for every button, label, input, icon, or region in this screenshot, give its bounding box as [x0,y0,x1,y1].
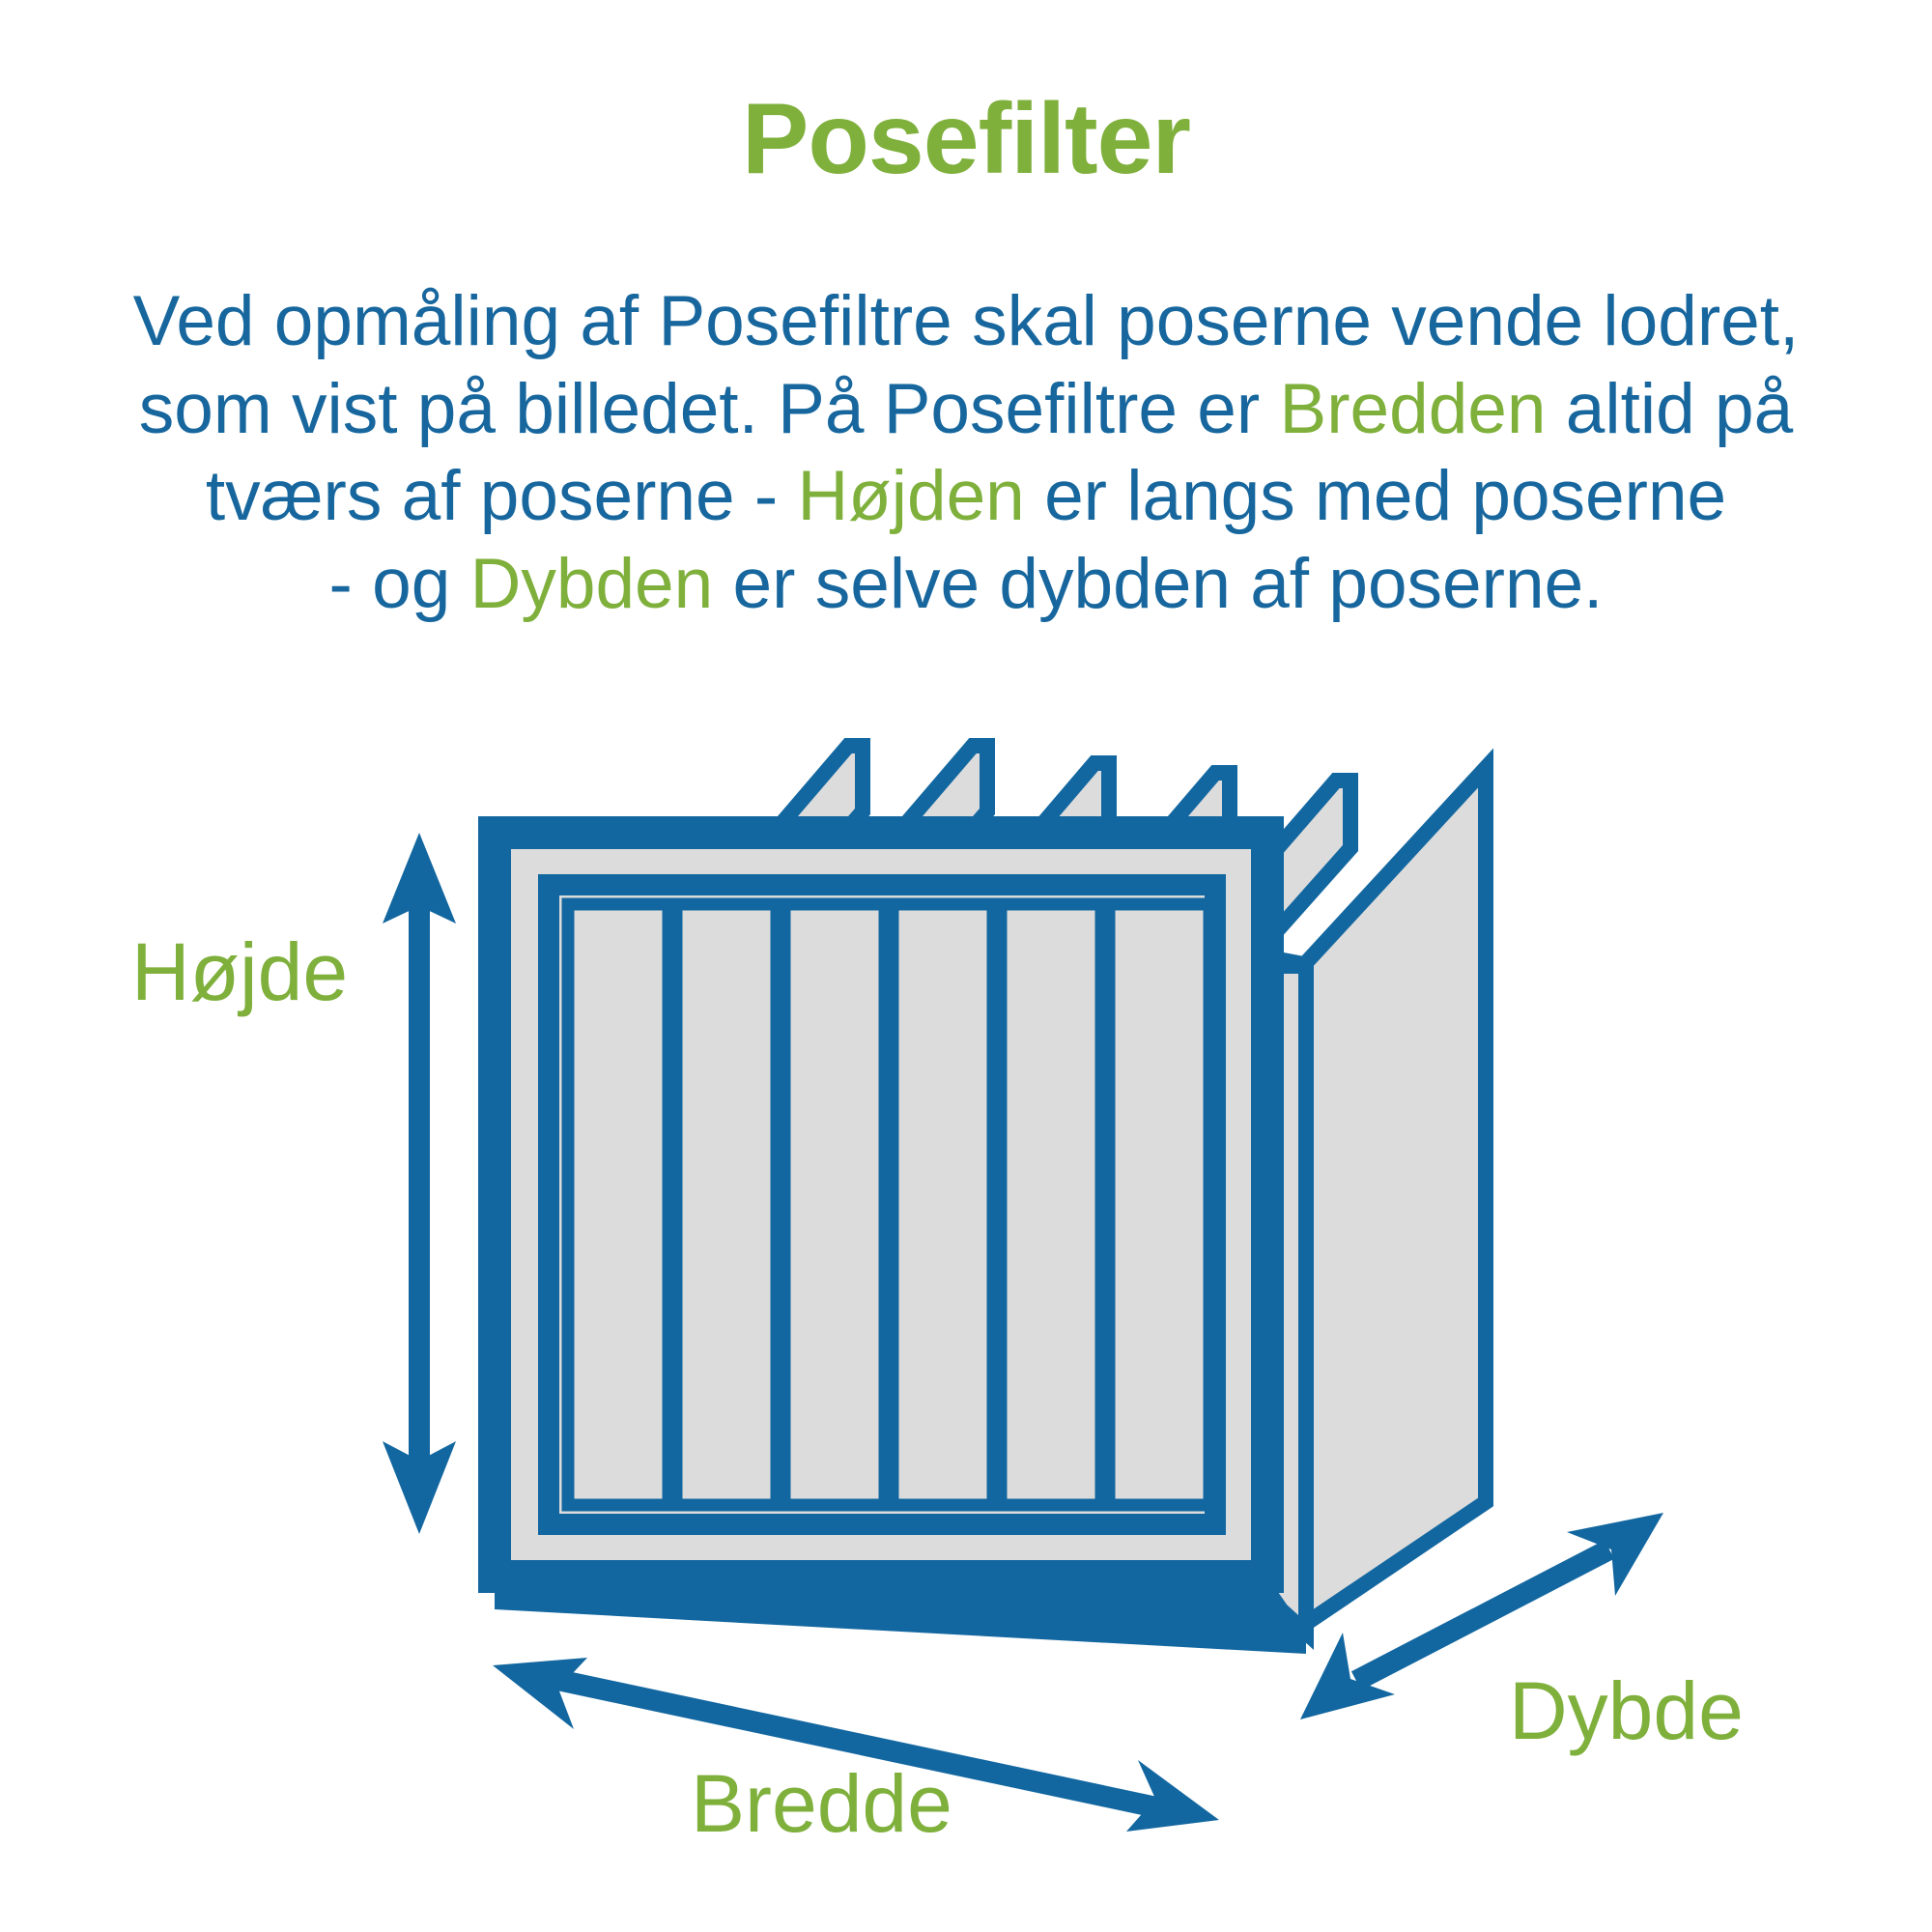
bag-opening-4 [893,904,993,1505]
bag-opening-3 [784,904,885,1505]
width-label: Bredde [691,1758,952,1849]
width-dimension: Bredde [493,1658,1219,1849]
bag-filter-diagram: Højde Bredde Dybde [0,0,1932,1932]
height-label: Højde [131,926,348,1017]
bag-opening-1 [568,904,668,1505]
bag-opening-2 [676,904,777,1505]
bag-opening-5 [1001,904,1101,1505]
bag-side-panel-right [1301,768,1486,1627]
depth-label: Dybde [1509,1665,1744,1756]
frame-bottom-face [495,1577,1306,1654]
poster-page: Posefilter Ved opmåling af Posefiltre sk… [0,0,1932,1932]
height-dimension: Højde [131,833,456,1534]
bag-front-openings-group [568,904,1209,1505]
bag-opening-6 [1109,904,1209,1505]
